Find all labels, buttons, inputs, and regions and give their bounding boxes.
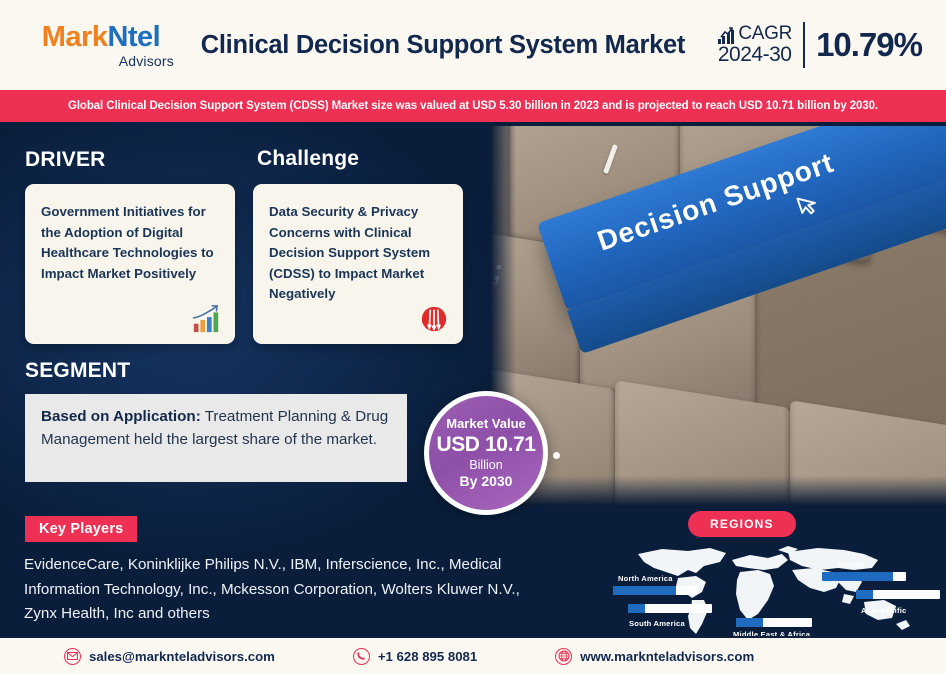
body-area: ; Decision Support DRIVER Challenge SEGM… (0, 122, 946, 638)
driver-card: Government Initiatives for the Adoption … (25, 184, 235, 344)
region-bar-europe (822, 572, 906, 581)
cagr-value: 10.79% (816, 26, 922, 64)
footer-email[interactable]: sales@marknteladvisors.com (64, 648, 275, 665)
infographic-page: MarkNtel Advisors Clinical Decision Supp… (0, 0, 946, 674)
logo-ntel-text: Ntel (107, 21, 160, 53)
segment-text: Based on Application: Treatment Planning… (25, 394, 407, 464)
segment-heading: SEGMENT (25, 359, 130, 383)
photo-fade-bottom (490, 476, 946, 506)
footer-phone-text: +1 628 895 8081 (378, 649, 477, 664)
globe-icon (555, 648, 572, 665)
footer-phone[interactable]: +1 628 895 8081 (353, 648, 477, 665)
cagr-left: CAGR 2024-30 (718, 24, 792, 66)
footer-website[interactable]: www.marknteladvisors.com (555, 648, 754, 665)
logo-mark-text: Mark (42, 21, 108, 53)
region-label-south-america: South America (629, 619, 685, 628)
region-label-asia-pacific: Asia-Pacific (861, 606, 906, 615)
region-bar-middle-east-africa (736, 618, 812, 627)
regions-pill: REGIONS (688, 511, 796, 537)
bar-chart-up-icon (191, 304, 221, 334)
cagr-divider (803, 22, 805, 68)
key-players-badge: Key Players (25, 516, 137, 542)
footer-website-text: www.marknteladvisors.com (580, 649, 754, 664)
arrow-cursor-icon (792, 188, 825, 221)
region-label-europe: Europe (838, 560, 865, 569)
banner-text: Global Clinical Decision Support System … (68, 100, 878, 112)
brand-logo[interactable]: MarkNtel Advisors (26, 23, 176, 68)
market-value-circle: Market Value USD 10.71 Billion By 2030 (424, 391, 548, 515)
footer: sales@marknteladvisors.com +1 628 895 80… (0, 638, 946, 674)
segment-bold-prefix: Based on Application: (41, 408, 201, 425)
challenge-card-text: Data Security & Privacy Concerns with Cl… (253, 184, 463, 305)
region-bar-south-america (628, 604, 712, 613)
market-value-unit: Billion (469, 458, 502, 472)
market-value-amount: USD 10.71 (436, 433, 535, 457)
logo-subtitle: Advisors (119, 54, 174, 68)
region-bar-north-america (613, 586, 697, 595)
keyboard-photo: ; Decision Support (490, 126, 946, 506)
header: MarkNtel Advisors Clinical Decision Supp… (0, 0, 946, 90)
region-label-north-america: North America (618, 574, 673, 583)
cagr-label: CAGR (738, 24, 792, 44)
region-bar-asia-pacific (856, 590, 940, 599)
driver-card-text: Government Initiatives for the Adoption … (25, 184, 235, 284)
envelope-icon (64, 648, 81, 665)
footer-email-text: sales@marknteladvisors.com (89, 649, 275, 664)
challenge-card: Data Security & Privacy Concerns with Cl… (253, 184, 463, 344)
market-value-label: Market Value (446, 417, 526, 432)
challenge-heading: Challenge (257, 147, 359, 171)
cagr-years: 2024-30 (718, 44, 792, 66)
driver-heading: DRIVER (25, 148, 106, 172)
circle-accent-dot (553, 452, 560, 459)
cagr-block: CAGR 2024-30 10.79% (718, 22, 922, 68)
key-players-text: EvidenceCare, Koninklijke Philips N.V., … (24, 553, 544, 627)
cagr-label-row: CAGR (718, 24, 792, 44)
segment-box: Based on Application: Treatment Planning… (25, 394, 407, 482)
market-size-banner: Global Clinical Decision Support System … (0, 90, 946, 122)
page-title: Clinical Decision Support System Market (168, 31, 718, 60)
logo-wordmark: MarkNtel (42, 23, 161, 52)
phone-icon (353, 648, 370, 665)
growth-chart-icon (718, 29, 735, 44)
market-value-year: By 2030 (460, 473, 513, 489)
red-down-arrows-icon (419, 304, 449, 334)
